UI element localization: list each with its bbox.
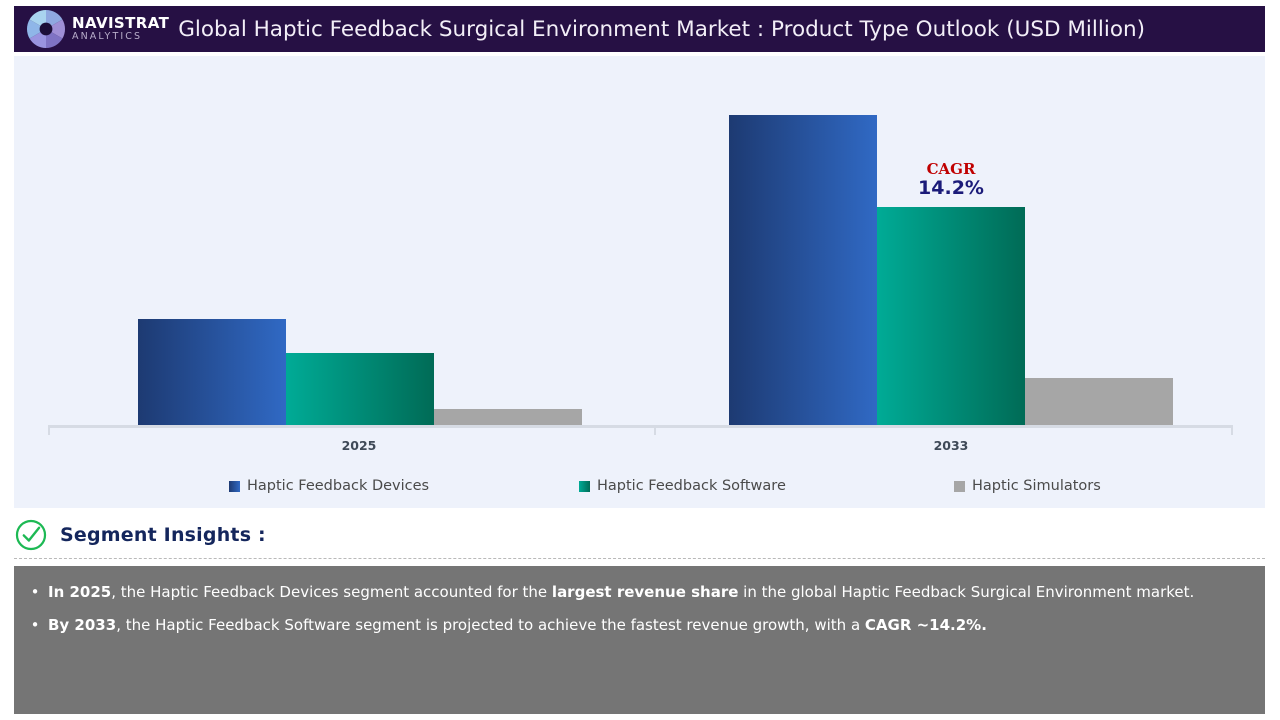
x-axis-label-2025: 2025 xyxy=(299,438,419,453)
pie-wheel-logo-icon xyxy=(24,9,68,49)
axis-tick-1 xyxy=(654,425,656,435)
legend-item-haptic-simulators[interactable]: Haptic Simulators xyxy=(954,478,1101,494)
segment-insights-body: •In 2025, the Haptic Feedback Devices se… xyxy=(14,566,1265,714)
brand-subtitle: ANALYTICS xyxy=(72,32,169,42)
legend-item-haptic-feedback-devices[interactable]: Haptic Feedback Devices xyxy=(229,478,429,494)
infographic-page: NAVISTRAT ANALYTICS Global Haptic Feedba… xyxy=(0,0,1280,720)
axis-tick-0 xyxy=(48,425,50,435)
insight-bullet: •By 2033, the Haptic Feedback Software s… xyxy=(22,609,1265,642)
chart-legend: Haptic Feedback DevicesHaptic Feedback S… xyxy=(14,470,1265,504)
bar-2025-haptic-simulators xyxy=(434,409,582,425)
x-axis-label-2033: 2033 xyxy=(891,438,1011,453)
bar-2033-haptic-simulators xyxy=(1025,378,1173,425)
bar-chart-plot: 20252033CAGR14.2% xyxy=(14,56,1265,428)
header-bar: NAVISTRAT ANALYTICS Global Haptic Feedba… xyxy=(14,6,1265,52)
bar-2033-haptic-feedback-devices xyxy=(729,115,877,425)
bar-2025-haptic-feedback-software xyxy=(286,353,434,425)
legend-label: Haptic Feedback Devices xyxy=(247,478,429,494)
cagr-label: CAGR xyxy=(881,161,1021,178)
legend-swatch-icon xyxy=(229,481,240,492)
insight-bullet-text: In 2025, the Haptic Feedback Devices seg… xyxy=(48,576,1265,609)
axis-tick-2 xyxy=(1231,425,1233,435)
insight-bullet-text: By 2033, the Haptic Feedback Software se… xyxy=(48,609,1265,642)
brand-wordmark: NAVISTRAT ANALYTICS xyxy=(72,16,169,42)
segment-insights-header: Segment Insights : xyxy=(14,516,266,554)
bar-2025-haptic-feedback-devices xyxy=(138,319,286,425)
bar-2033-haptic-feedback-software xyxy=(877,207,1025,425)
legend-swatch-icon xyxy=(579,481,590,492)
legend-label: Haptic Simulators xyxy=(972,478,1101,494)
segment-insights-title: Segment Insights : xyxy=(60,524,266,546)
insight-bullet: •In 2025, the Haptic Feedback Devices se… xyxy=(22,576,1265,609)
chart-panel: 20252033CAGR14.2% Haptic Feedback Device… xyxy=(14,56,1265,508)
bullet-marker-icon: • xyxy=(22,609,48,642)
page-title: Global Haptic Feedback Surgical Environm… xyxy=(178,17,1145,42)
legend-label: Haptic Feedback Software xyxy=(597,478,786,494)
legend-swatch-icon xyxy=(954,481,965,492)
x-axis-line xyxy=(48,425,1233,428)
legend-item-haptic-feedback-software[interactable]: Haptic Feedback Software xyxy=(579,478,786,494)
bullet-marker-icon: • xyxy=(22,576,48,609)
check-circle-icon xyxy=(14,518,48,552)
cagr-annotation: CAGR14.2% xyxy=(881,161,1021,199)
brand-name: NAVISTRAT xyxy=(72,16,169,31)
insights-divider xyxy=(14,558,1265,559)
brand-logo xyxy=(18,8,74,50)
cagr-value: 14.2% xyxy=(881,178,1021,199)
